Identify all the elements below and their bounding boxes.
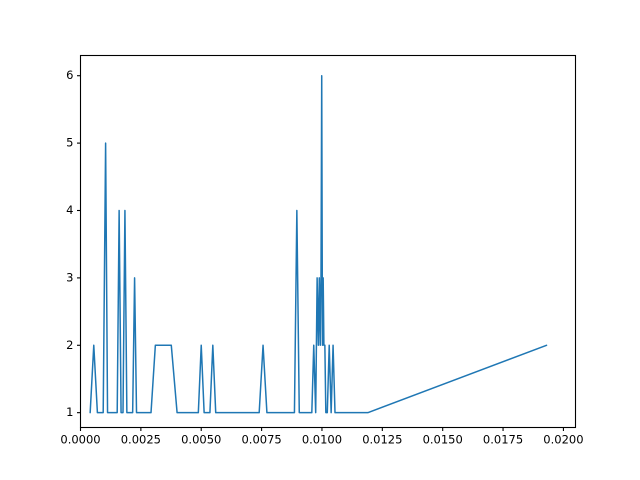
x-tick-label: 0.0100 bbox=[302, 432, 342, 446]
x-tick-label: 0.0125 bbox=[362, 432, 402, 446]
y-tick-label: 5 bbox=[66, 136, 73, 150]
x-tick-label: 0.0000 bbox=[60, 432, 100, 446]
x-tick-label: 0.0175 bbox=[483, 432, 523, 446]
y-tick-label: 3 bbox=[66, 270, 73, 284]
x-tick-label: 0.0150 bbox=[423, 432, 463, 446]
x-tick-label: 0.0050 bbox=[181, 432, 221, 446]
x-tick-label: 0.0200 bbox=[543, 432, 583, 446]
y-tick-label: 2 bbox=[66, 338, 73, 352]
y-tick-label: 4 bbox=[66, 203, 73, 217]
y-tick-label: 1 bbox=[66, 405, 73, 419]
x-tick-label: 0.0075 bbox=[241, 432, 281, 446]
x-tick-label: 0.0025 bbox=[121, 432, 161, 446]
axes-background bbox=[0, 0, 640, 480]
line-chart: 0.00000.00250.00500.00750.01000.01250.01… bbox=[0, 0, 640, 480]
figure-canvas: 0.00000.00250.00500.00750.01000.01250.01… bbox=[0, 0, 640, 480]
y-tick-label: 6 bbox=[66, 68, 73, 82]
